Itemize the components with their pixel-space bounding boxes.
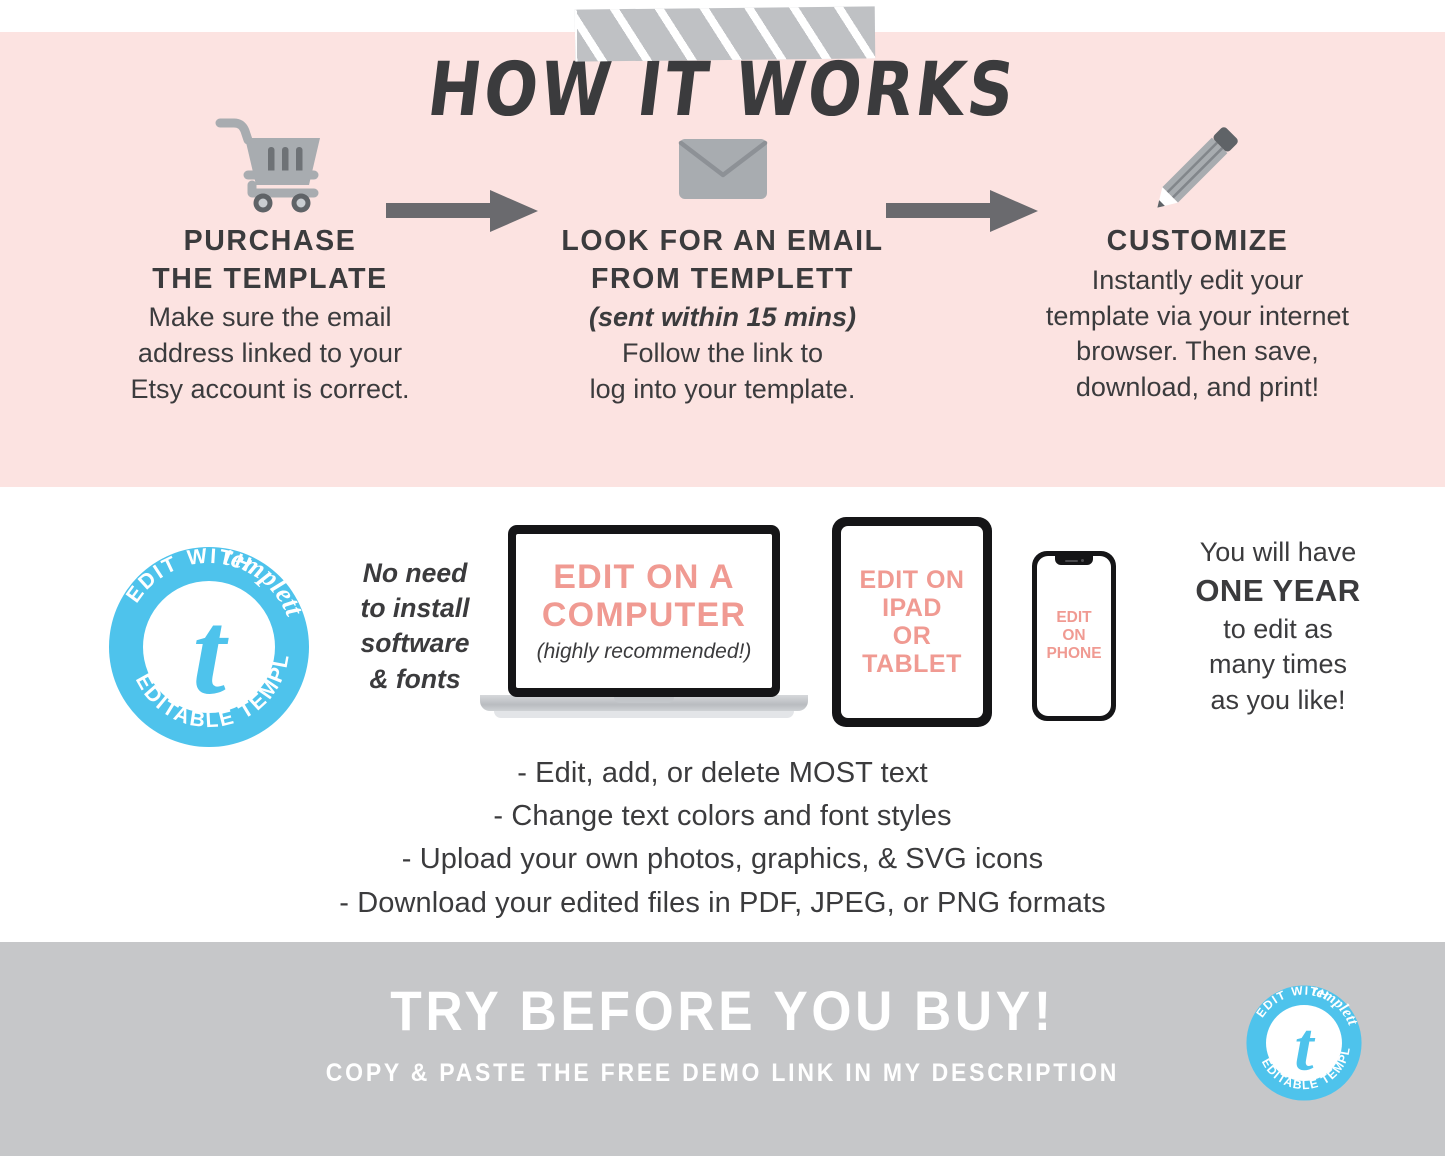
one-year-line4: as you like!: [1128, 683, 1428, 719]
no-need-line2: to install: [330, 591, 500, 626]
svg-text:t: t: [192, 586, 229, 719]
step-body-italic: (sent within 15 mins): [510, 300, 935, 336]
step-look-for-email: LOOK FOR AN EMAIL FROM TEMPLETT (sent wi…: [510, 108, 935, 408]
one-year-highlight: ONE YEAR: [1195, 573, 1360, 608]
templett-badge: EDIT WITH templett EDITABLE TEMPLATE t: [103, 541, 315, 753]
list-item: - Download your edited files in PDF, JPE…: [0, 882, 1445, 925]
phone-screen-line1: EDIT: [1046, 609, 1101, 627]
list-item: - Upload your own photos, graphics, & SV…: [0, 838, 1445, 881]
tablet-screen-line4: TABLET: [860, 650, 965, 678]
tablet-device: EDIT ON IPAD OR TABLET: [832, 517, 992, 727]
no-need-line3: software: [330, 626, 500, 661]
list-item: - Edit, add, or delete MOST text: [0, 752, 1445, 795]
tablet-screen-line3: OR: [860, 622, 965, 650]
envelope-icon: [510, 108, 935, 213]
one-year-text: You will have ONE YEAR to edit as many t…: [1128, 535, 1428, 718]
arrow-head: [990, 190, 1038, 232]
step-body-line3: Etsy account is correct.: [60, 372, 480, 408]
laptop-screen: EDIT ON A COMPUTER (highly recommended!): [516, 534, 772, 688]
arrow-right-icon: [886, 190, 1038, 232]
laptop-screen-line1: EDIT ON A: [542, 558, 746, 596]
washi-tape-icon: [575, 6, 876, 61]
no-need-text: No need to install software & fonts: [330, 556, 500, 697]
phone-screen-line2: ON: [1046, 627, 1101, 645]
step-heading: LOOK FOR AN EMAIL FROM TEMPLETT: [510, 223, 935, 298]
step-body: Make sure the email address linked to yo…: [60, 300, 480, 408]
tablet-screen-line2: IPAD: [860, 594, 965, 622]
footer-subtitle: COPY & PASTE THE FREE DEMO LINK IN MY DE…: [58, 1059, 1387, 1088]
step-heading: CUSTOMIZE: [985, 223, 1410, 261]
phone-speaker-icon: [1065, 560, 1078, 562]
laptop-screen-sub: (highly recommended!): [537, 640, 752, 664]
footer-title: TRY BEFORE YOU BUY!: [58, 978, 1387, 1043]
tablet-screen-line1: EDIT ON: [860, 566, 965, 594]
infographic-page: HOW IT WORKS PURC: [0, 0, 1445, 1156]
step-body-line3: browser. Then save,: [985, 334, 1410, 370]
step-body-line4: download, and print!: [985, 370, 1410, 406]
step-purchase: PURCHASE THE TEMPLATE Make sure the emai…: [60, 108, 480, 408]
washi-tape-edge: [575, 9, 583, 61]
step-heading-line2: THE TEMPLATE: [60, 261, 480, 299]
step-body-line1: Follow the link to: [510, 336, 935, 372]
try-before-you-buy-banner: TRY BEFORE YOU BUY! COPY & PASTE THE FRE…: [0, 942, 1445, 1156]
step-heading-line1: LOOK FOR AN EMAIL: [510, 223, 935, 261]
arrow-right-icon: [386, 190, 538, 232]
phone-device: EDIT ON PHONE: [1032, 551, 1116, 721]
laptop-device: EDIT ON A COMPUTER (highly recommended!): [480, 525, 808, 730]
step-body-line1: Make sure the email: [60, 300, 480, 336]
step-body-line2: template via your internet: [985, 299, 1410, 335]
svg-text:t: t: [1294, 1007, 1315, 1084]
laptop-screen-heading: EDIT ON A COMPUTER: [542, 558, 746, 634]
step-heading-line2: FROM TEMPLETT: [510, 261, 935, 299]
list-item: - Change text colors and font styles: [0, 795, 1445, 838]
tablet-screen: EDIT ON IPAD OR TABLET: [841, 526, 983, 718]
arrow-shaft: [886, 203, 998, 218]
laptop-foot: [494, 711, 794, 718]
templett-badge-footer: EDIT WITH templett EDITABLE TEMPLATE t: [1243, 982, 1365, 1104]
step-body: Instantly edit your template via your in…: [985, 263, 1410, 407]
step-body: (sent within 15 mins) Follow the link to…: [510, 300, 935, 408]
step-body-line1: Instantly edit your: [985, 263, 1410, 299]
step-heading: PURCHASE THE TEMPLATE: [60, 223, 480, 298]
steps-container: PURCHASE THE TEMPLATE Make sure the emai…: [0, 108, 1445, 458]
laptop-screen-line2: COMPUTER: [542, 596, 746, 634]
phone-notch: [1055, 556, 1093, 565]
laptop-lid: EDIT ON A COMPUTER (highly recommended!): [508, 525, 780, 697]
step-heading-line1: CUSTOMIZE: [985, 223, 1410, 261]
feature-bullet-list: - Edit, add, or delete MOST text - Chang…: [0, 752, 1445, 925]
arrow-shaft: [386, 203, 498, 218]
phone-camera-icon: [1081, 559, 1084, 562]
one-year-line1: You will have: [1128, 535, 1428, 571]
phone-screen-line3: PHONE: [1046, 645, 1101, 663]
arrow-head: [490, 190, 538, 232]
one-year-line3: many times: [1128, 647, 1428, 683]
no-need-line4: & fonts: [330, 662, 500, 697]
phone-screen: EDIT ON PHONE: [1037, 556, 1111, 716]
step-body-line2: log into your template.: [510, 372, 935, 408]
no-need-line1: No need: [330, 556, 500, 591]
step-customize: CUSTOMIZE Instantly edit your template v…: [985, 108, 1410, 406]
pencil-icon: [985, 108, 1410, 213]
step-body-line2: address linked to your: [60, 336, 480, 372]
one-year-line2: to edit as: [1128, 612, 1428, 648]
